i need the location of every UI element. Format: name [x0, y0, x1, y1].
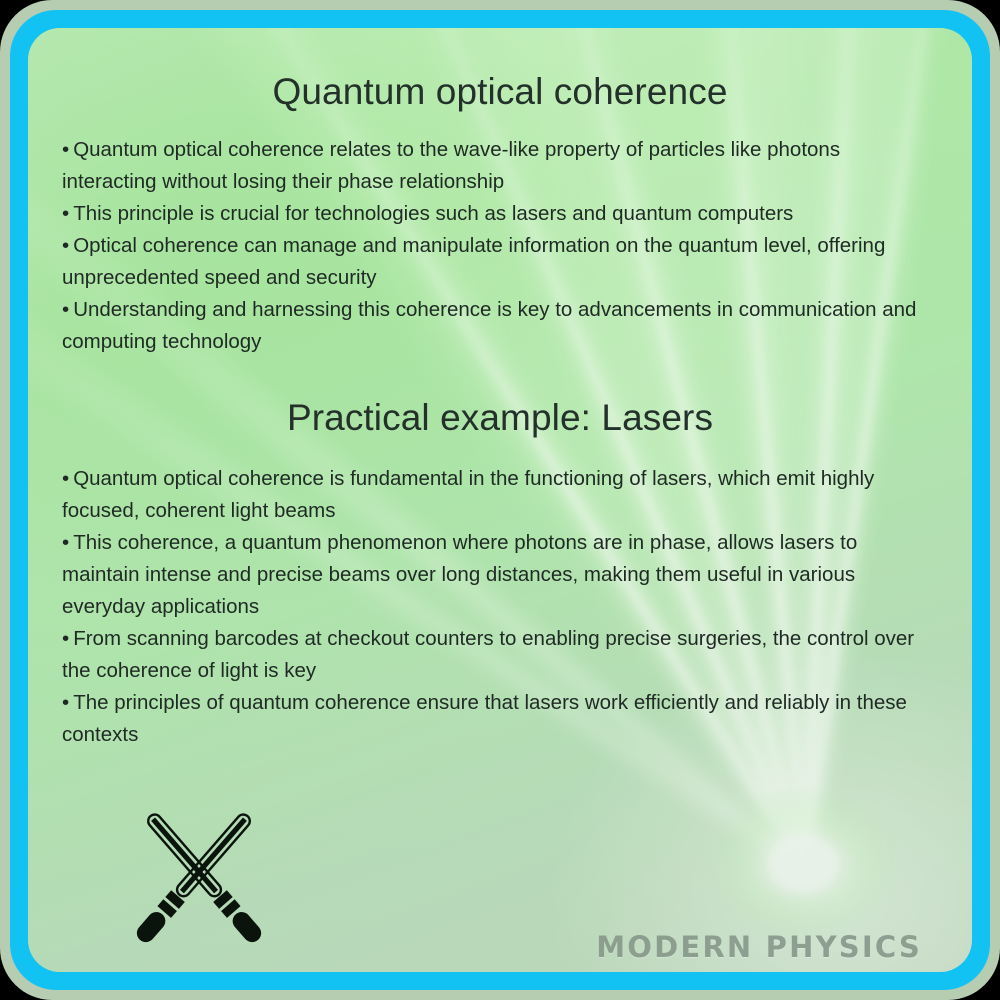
bullet-marker: • [62, 138, 69, 161]
list-item-text: From scanning barcodes at checkout count… [62, 627, 914, 682]
section-heading-practical-example: Practical example: Lasers [62, 396, 938, 440]
slide-card: Quantum optical coherence •Quantum optic… [28, 28, 972, 972]
bullet-marker: • [62, 298, 69, 321]
bullet-marker: • [62, 691, 69, 714]
list-item: •This coherence, a quantum phenomenon wh… [62, 527, 938, 623]
list-item-text: Quantum optical coherence is fundamental… [62, 467, 874, 522]
bullet-list-1: •Quantum optical coherence relates to th… [62, 134, 938, 358]
slide-frame: Quantum optical coherence •Quantum optic… [10, 10, 990, 990]
crossed-lightsabers-icon [114, 792, 284, 952]
list-item: •This principle is crucial for technolog… [62, 198, 938, 230]
list-item-text: This principle is crucial for technologi… [73, 202, 793, 225]
slide-stage: Quantum optical coherence •Quantum optic… [0, 0, 1000, 1000]
bullet-marker: • [62, 234, 69, 257]
list-item: •From scanning barcodes at checkout coun… [62, 623, 938, 687]
watermark-modern-physics: MODERN PHYSICS [596, 930, 922, 964]
list-item: •Quantum optical coherence relates to th… [62, 134, 938, 198]
list-item-text: Understanding and harnessing this cohere… [62, 298, 916, 353]
bullet-marker: • [62, 202, 69, 225]
list-item-text: Quantum optical coherence relates to the… [62, 138, 840, 193]
list-item: •Quantum optical coherence is fundamenta… [62, 463, 938, 527]
page-title: Quantum optical coherence [62, 70, 938, 114]
list-item-text: The principles of quantum coherence ensu… [62, 691, 907, 746]
bullet-marker: • [62, 531, 69, 554]
list-item-text: Optical coherence can manage and manipul… [62, 234, 885, 289]
bullet-list-2: •Quantum optical coherence is fundamenta… [62, 463, 938, 751]
bullet-marker: • [62, 627, 69, 650]
list-item-text: This coherence, a quantum phenomenon whe… [62, 531, 857, 618]
list-item: •Understanding and harnessing this coher… [62, 294, 938, 358]
bullet-marker: • [62, 467, 69, 490]
list-item: •The principles of quantum coherence ens… [62, 687, 938, 751]
list-item: •Optical coherence can manage and manipu… [62, 230, 938, 294]
